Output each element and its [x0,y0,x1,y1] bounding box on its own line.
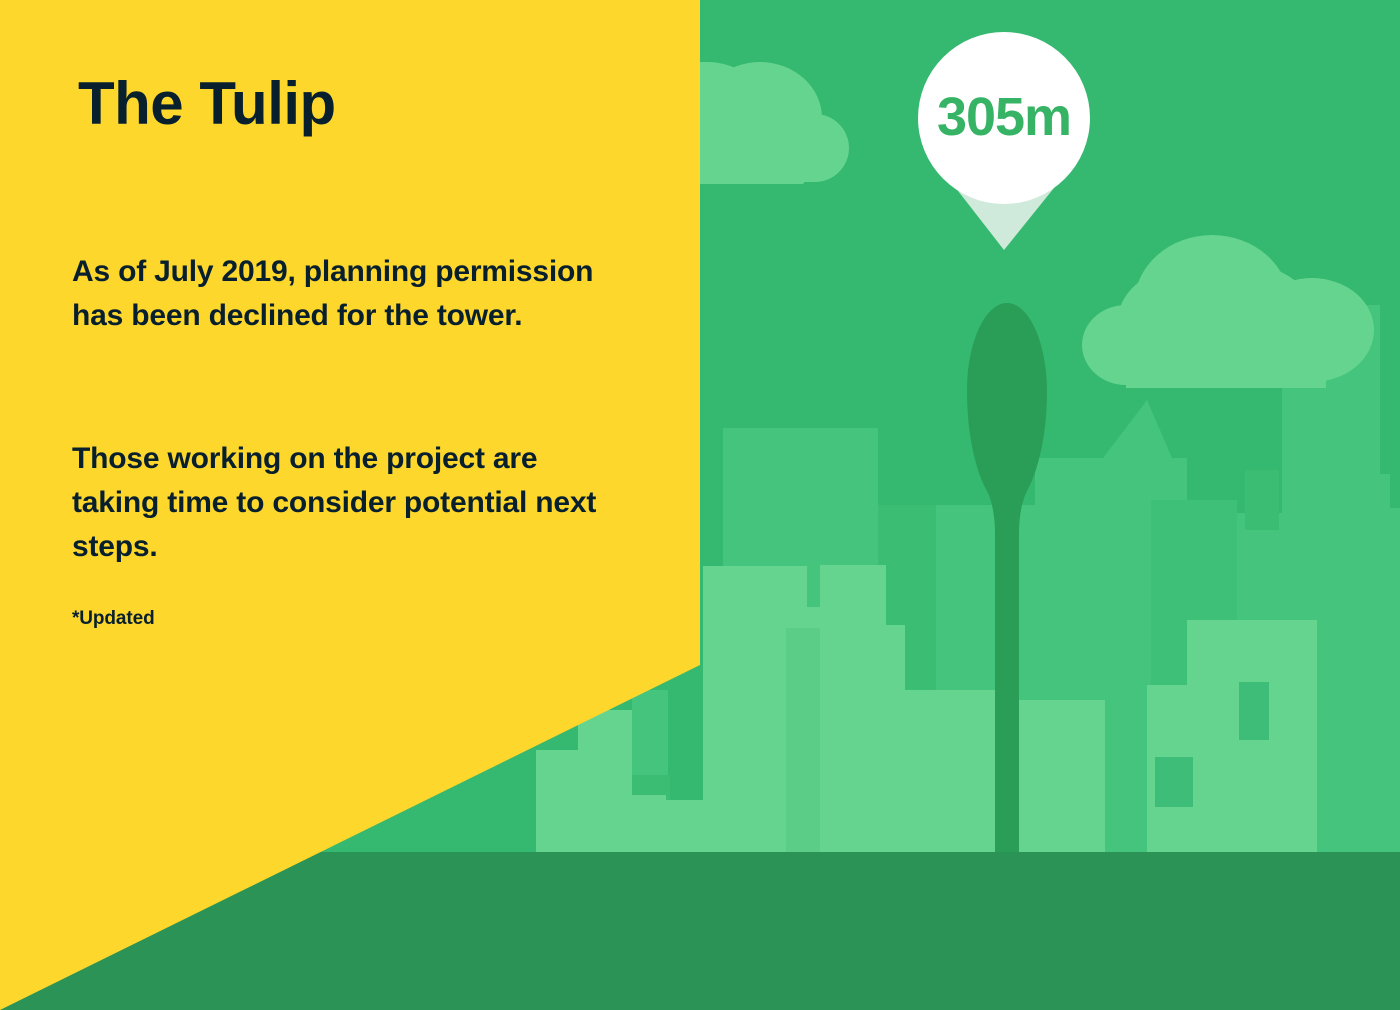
footnote-updated: *Updated [72,608,155,630]
body-paragraph: As of July 2019, planning permission has… [72,250,632,338]
building-front-6 [1005,700,1105,852]
building-front-7-window [1239,682,1269,740]
page-title: The Tulip [78,72,336,137]
infographic-card: 305m The Tulip As of July 2019, planning… [0,0,1400,1010]
text-panel: The Tulip As of July 2019, planning perm… [0,0,700,1010]
text-panel-content: The Tulip As of July 2019, planning perm… [0,0,700,1010]
building-back-4-cap [1245,470,1279,530]
building-front-9 [1317,612,1400,852]
building-front-8-window [1155,757,1193,807]
height-marker[interactable]: 305m [918,32,1090,204]
building-back-5-cap [1364,474,1390,520]
building-front-5 [880,690,1005,852]
paragraph-block-1: As of July 2019, planning permission has… [72,250,632,338]
paragraph-block-2: Those working on the project are taking … [72,437,632,568]
body-paragraph: Those working on the project are taking … [72,437,632,568]
height-marker-label: 305m [937,90,1071,144]
